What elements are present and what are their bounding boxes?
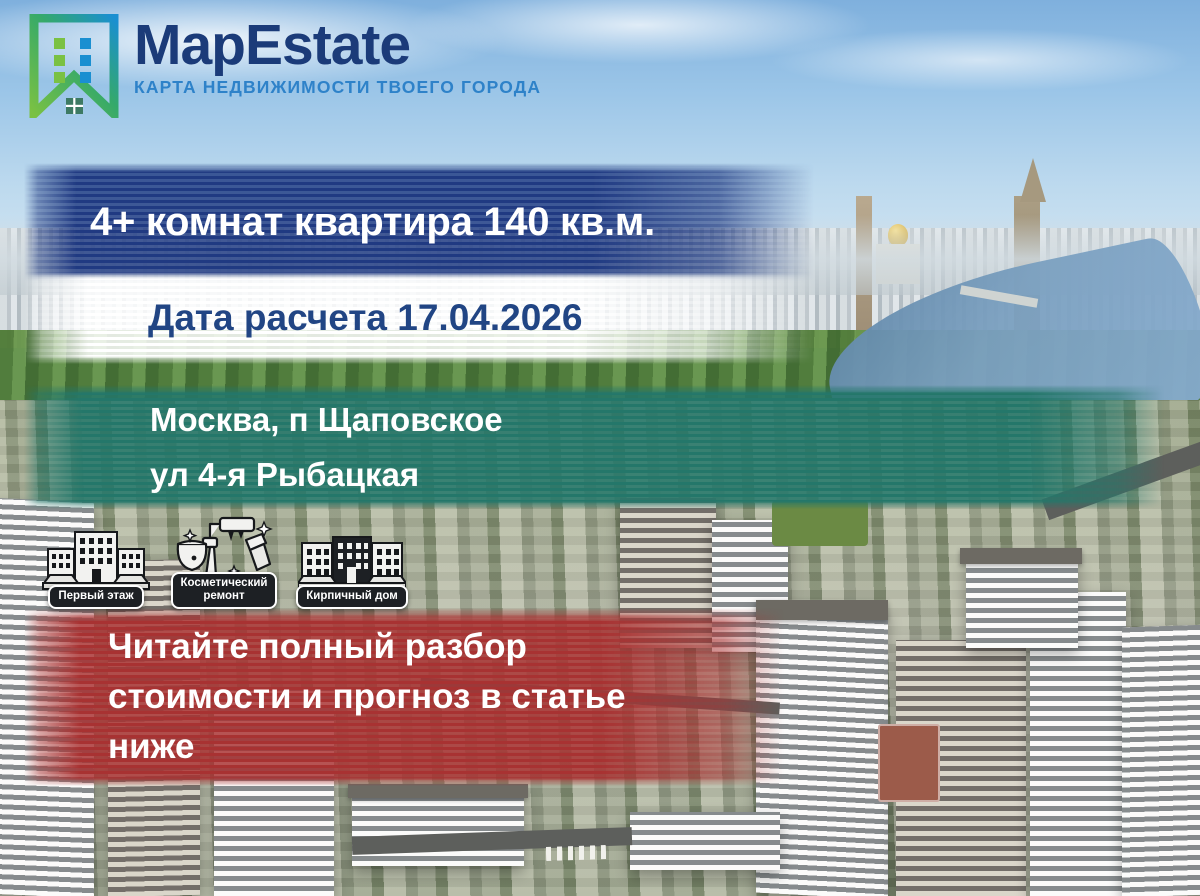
badge-brick-house[interactable]: Кирпичный дом (296, 527, 408, 609)
property-title-banner: 4+ комнат квартира 140 кв.м. (24, 163, 814, 281)
building-roof (348, 784, 528, 798)
badge-first-floor-label: Первый этаж (48, 585, 143, 609)
paint-roller-brush-icon (172, 514, 276, 580)
badge-cosmetic-renovation-label: Косметический ремонт (171, 572, 278, 609)
badge-label-line-2: ремонт (203, 590, 244, 602)
badge-label-line-1: Косметический (181, 577, 268, 589)
skyscraper-spire (1020, 158, 1046, 202)
calculation-date-text: Дата расчета 17.04.2026 (24, 297, 814, 339)
calculation-date-banner: Дата расчета 17.04.2026 (24, 272, 814, 364)
brand-wordmark: MapEstate КАРТА НЕДВИЖИМОСТИ ТВОЕГО ГОРО… (134, 14, 541, 98)
call-to-action-text: Читайте полный разбор стоимости и прогно… (24, 622, 784, 771)
property-title-text: 4+ комнат квартира 140 кв.м. (24, 200, 814, 245)
low-rise-block (630, 812, 780, 870)
brand-logo[interactable]: MapEstate КАРТА НЕДВИЖИМОСТИ ТВОЕГО ГОРО… (28, 14, 541, 118)
tower-block (1122, 624, 1200, 896)
brand-tagline: КАРТА НЕДВИЖИМОСТИ ТВОЕГО ГОРОДА (134, 77, 541, 98)
brick-building-icon (298, 527, 406, 593)
promo-poster: MapEstate КАРТА НЕДВИЖИМОСТИ ТВОЕГО ГОРО… (0, 0, 1200, 896)
cta-line-1: Читайте полный разбор (108, 622, 784, 672)
badge-first-floor[interactable]: Первый этаж (40, 527, 152, 609)
cta-line-2: стоимости и прогноз в статье (108, 672, 784, 722)
apartment-building-icon (42, 527, 150, 593)
badge-brick-house-label: Кирпичный дом (296, 585, 408, 609)
badge-cosmetic-renovation[interactable]: Косметический ремонт (168, 514, 280, 609)
property-feature-badges: Первый этаж (40, 514, 408, 609)
address-text: Москва, п Щаповское ул 4-я Рыбацкая (24, 403, 1164, 491)
address-line-2: ул 4-я Рыбацкая (150, 458, 1164, 491)
bookmark-building-icon (28, 14, 120, 118)
call-to-action-banner: Читайте полный разбор стоимости и прогно… (24, 608, 784, 786)
building-roof (960, 548, 1082, 564)
low-rise-block (352, 790, 524, 866)
brand-name: MapEstate (134, 18, 541, 72)
tennis-court (878, 724, 940, 802)
window-glyph (66, 98, 83, 114)
pedestrian-crossing (546, 845, 606, 861)
address-line-1: Москва, п Щаповское (150, 403, 1164, 436)
tower-block (966, 556, 1078, 648)
address-banner: Москва, п Щаповское ул 4-я Рыбацкая (24, 385, 1164, 509)
cta-line-3: ниже (108, 722, 784, 772)
